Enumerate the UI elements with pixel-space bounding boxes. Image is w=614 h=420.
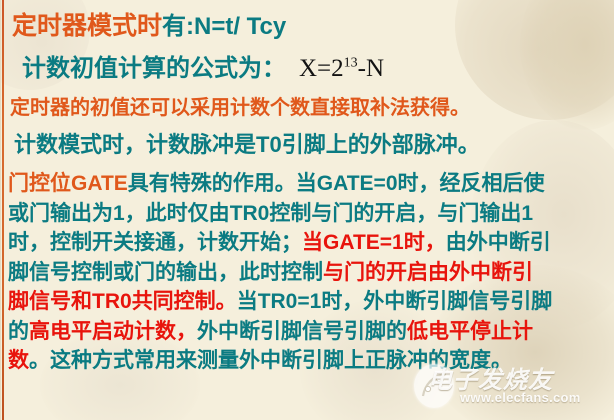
joint-control-desc: 共同控制。 bbox=[132, 289, 237, 313]
note-counter-mode: 计数模式时，计数脉冲是T0引脚上的外部脉冲。 bbox=[6, 124, 610, 167]
pulse-width-desc: 。这种方式常用来测量外中断引脚上正脉冲的宽度。 bbox=[29, 348, 512, 372]
counter-mode-part-2: 引脚上的外部脉冲。 bbox=[282, 133, 480, 158]
formula-lead-in: 计数初值计算的公式为： bbox=[22, 54, 286, 82]
tr0-one-suffix: 时，外中断引脚信号引脚 bbox=[321, 289, 552, 313]
tr0-keyword-2: TR0 bbox=[92, 290, 132, 313]
slide-canvas: 定时器模式时有:N=t/ Tcy 计数初值计算的公式为：X=213-N 定时器的… bbox=[0, 0, 614, 420]
or-gate-output-1: 或门输出为 bbox=[8, 201, 113, 225]
ext-int-pin-desc-1: 由外中断引 bbox=[446, 230, 551, 254]
heading-timer-mode-formula: 有:N=t/ Tcy bbox=[162, 13, 286, 40]
or-gate-output-2: ，此时仅由 bbox=[125, 201, 230, 225]
stop-count-tail: 数 bbox=[8, 348, 29, 372]
or-gate-output-3: 控制与门的开启，与门输出 bbox=[269, 201, 521, 225]
paragraph-line-1: 门控位GATE具有特殊的作用。当GATE=0时，经反相后使 bbox=[8, 169, 610, 199]
gate-equals-zero: GATE=0 bbox=[317, 172, 398, 195]
formula-expression: X=213-N bbox=[299, 55, 384, 82]
formula-tail: -N bbox=[358, 55, 384, 82]
paragraph-line-3: 时，控制开关接通，计数开始；当GATE=1时，由外中断引 bbox=[8, 228, 610, 258]
formula-base: X=2 bbox=[299, 55, 344, 82]
pin-signal-desc-2: 脚信号和 bbox=[8, 289, 92, 313]
heading-timer-mode-label: 定时器模式时 bbox=[12, 11, 162, 40]
counter-mode-pin-t0: T0 bbox=[256, 132, 282, 157]
pin-signal-desc-1: 脚信号控制或门的输出，此时控制 bbox=[8, 260, 323, 284]
ext-int-pin-desc-2: 外中断引脚信号引脚的 bbox=[197, 319, 407, 343]
gate-equals-one: GATE=1 bbox=[323, 231, 404, 254]
tr0-one-prefix: 当 bbox=[237, 289, 258, 313]
formula-exponent: 13 bbox=[344, 56, 358, 71]
high-level-prefix: 的 bbox=[8, 319, 29, 343]
body-paragraph: 门控位GATE具有特殊的作用。当GATE=0时，经反相后使 或门输出为1，此时仅… bbox=[6, 169, 610, 376]
and-gate-open-desc: 与门的开启由外中断引 bbox=[323, 260, 533, 284]
gate-desc-1: 具有特殊的作用。当 bbox=[128, 171, 317, 195]
gate-desc-2: 时，经反相后使 bbox=[398, 171, 545, 195]
paragraph-line-2: 或门输出为1，此时仅由TR0控制与门的开启，与门输出1 bbox=[8, 199, 610, 229]
paragraph-line-5: 脚信号和TR0共同控制。当TR0=1时，外中断引脚信号引脚 bbox=[8, 287, 610, 317]
gate-bit-label: 门控位 bbox=[8, 171, 71, 195]
paragraph-line-7: 数。这种方式常用来测量外中断引脚上正脉冲的宽度。 bbox=[8, 346, 610, 376]
gate-one-suffix: 时， bbox=[404, 230, 446, 254]
or-gate-value-1: 1 bbox=[113, 202, 125, 225]
gate-keyword: GATE bbox=[71, 172, 128, 195]
high-level-start-count: 高电平启动计数， bbox=[29, 319, 197, 343]
counter-mode-part-1: 计数模式时，计数脉冲是 bbox=[14, 133, 256, 158]
paragraph-line-6: 的高电平启动计数，外中断引脚信号引脚的低电平停止计 bbox=[8, 317, 610, 347]
tr0-equals-one: TR0=1 bbox=[258, 290, 322, 313]
heading-timer-mode: 定时器模式时有:N=t/ Tcy bbox=[6, 6, 610, 47]
slide-content: 定时器模式时有:N=t/ Tcy 计数初值计算的公式为：X=213-N 定时器的… bbox=[0, 0, 614, 420]
low-level-stop-count: 低电平停止计 bbox=[407, 319, 533, 343]
tr0-keyword-1: TR0 bbox=[230, 202, 270, 225]
switch-on-desc: 时，控制开关接通，计数开始； bbox=[8, 230, 302, 254]
or-gate-value-2: 1 bbox=[521, 202, 533, 225]
note-initial-value: 定时器的初值还可以采用计数个数直接取补法获得。 bbox=[6, 90, 610, 124]
formula-line: 计数初值计算的公式为：X=213-N bbox=[6, 47, 610, 90]
paragraph-line-4: 脚信号控制或门的输出，此时控制与门的开启由外中断引 bbox=[8, 258, 610, 288]
gate-one-prefix: 当 bbox=[302, 230, 323, 254]
